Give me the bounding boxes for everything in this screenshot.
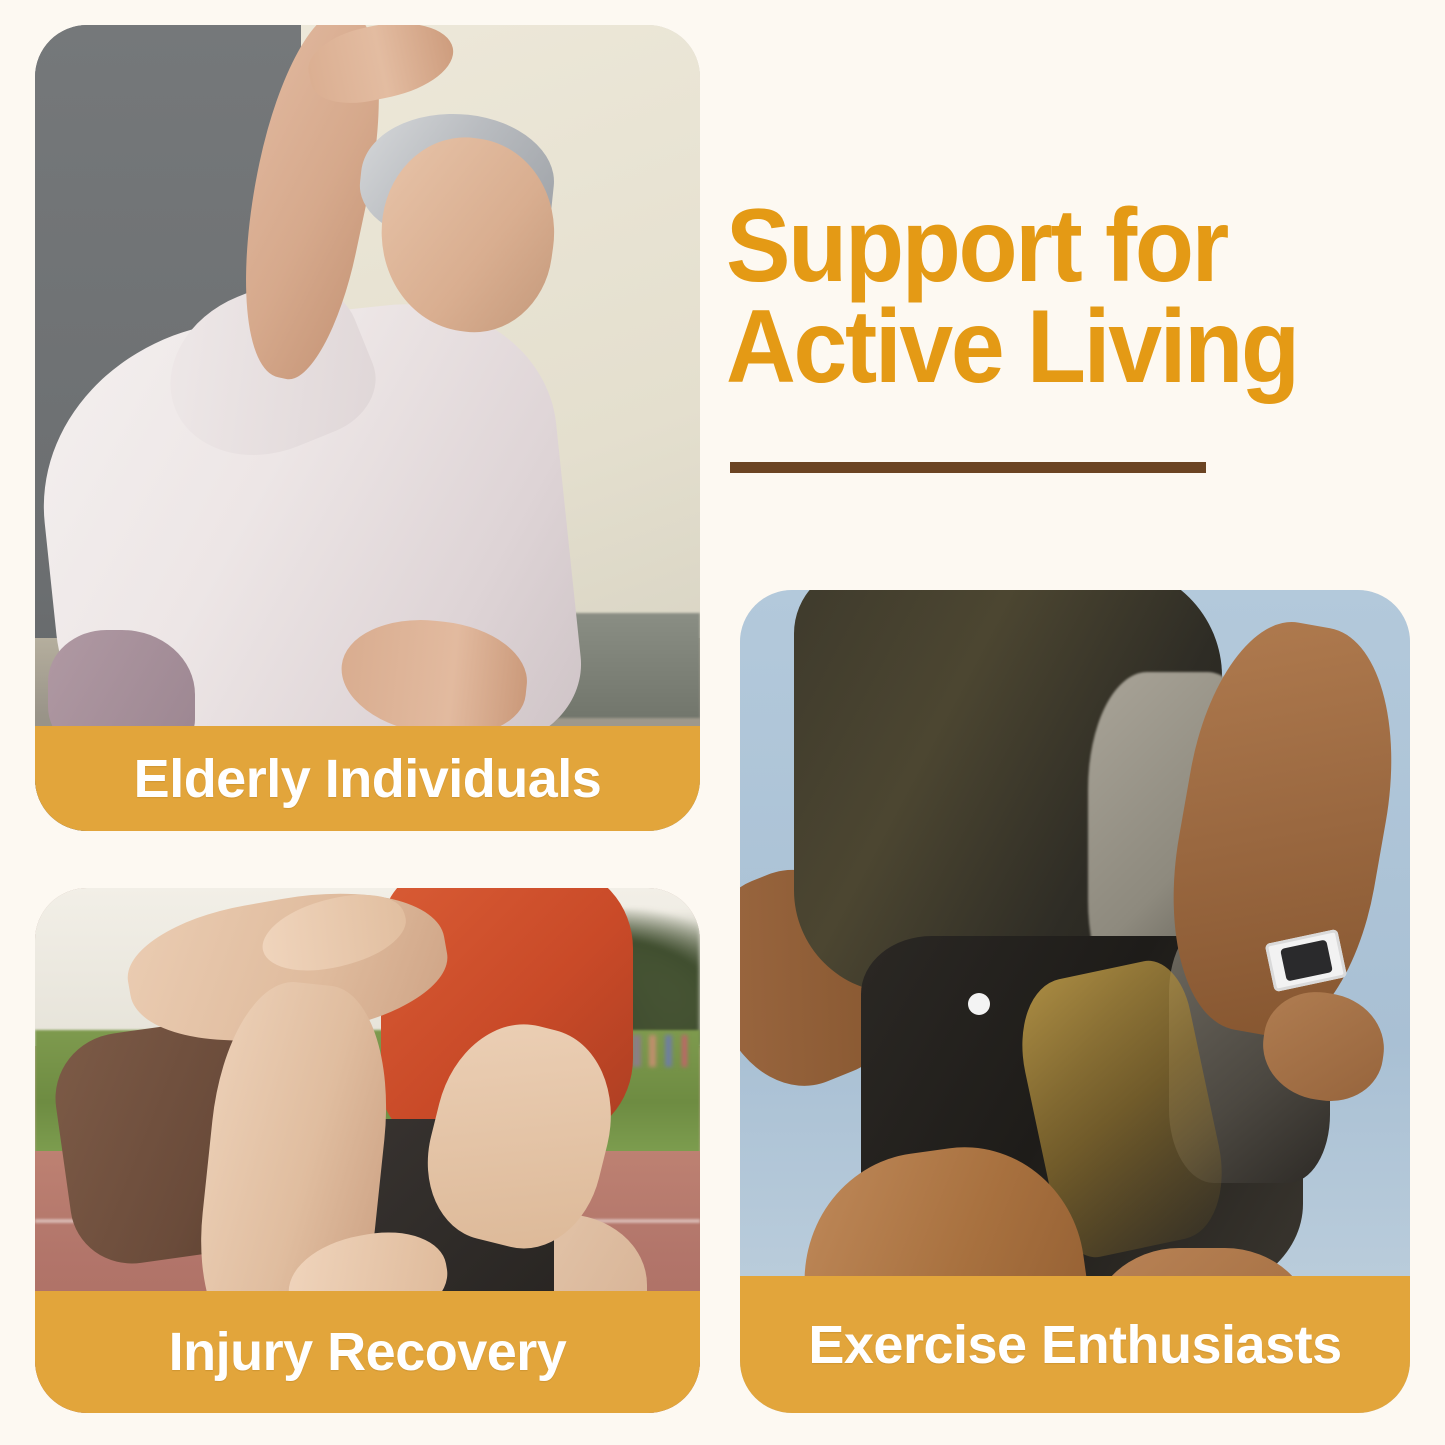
title-divider [730, 462, 1206, 473]
card-label-text: Elderly Individuals [134, 748, 602, 810]
card-injury-recovery[interactable]: Injury Recovery [35, 888, 700, 1413]
card-elderly-individuals[interactable]: Elderly Individuals [35, 25, 700, 831]
card-label-injury: Injury Recovery [35, 1291, 700, 1413]
card-label-text: Injury Recovery [169, 1321, 567, 1383]
card-label-elderly: Elderly Individuals [35, 726, 700, 831]
card-label-exercise: Exercise Enthusiasts [740, 1276, 1410, 1413]
shorts-logo-icon [968, 993, 990, 1015]
heading-block: Support for Active Living [726, 196, 1416, 398]
photo-elderly-stretching [35, 25, 700, 831]
card-label-text: Exercise Enthusiasts [808, 1314, 1341, 1376]
card-exercise-enthusiasts[interactable]: Exercise Enthusiasts [740, 590, 1410, 1413]
poster-canvas: Elderly Individuals Injury Recovery [0, 0, 1445, 1445]
page-title: Support for Active Living [726, 196, 1368, 398]
